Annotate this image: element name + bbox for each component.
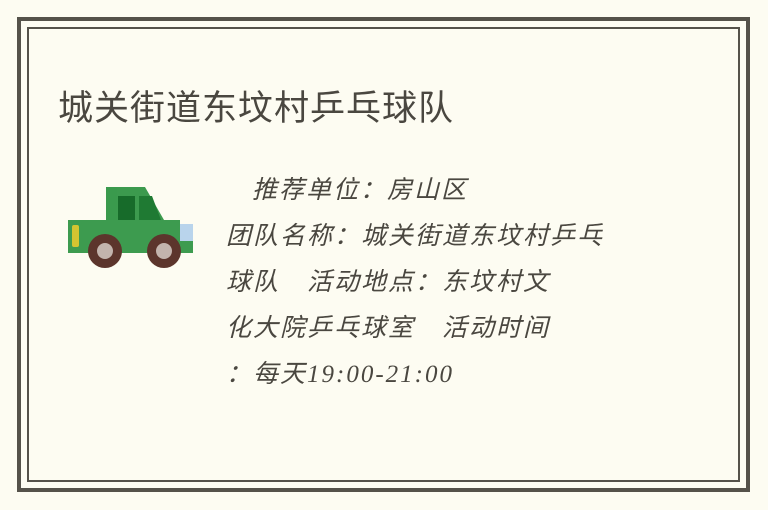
info-card: 城关街道东坟村乒乓球队 [0, 0, 768, 510]
green-pickup-truck-icon [60, 175, 208, 270]
detail-line: 球队 活动地点：东坟村文 [226, 260, 656, 306]
page-title: 城关街道东坟村乒乓球队 [58, 87, 454, 131]
detail-line: ：每天19:00-21:00 [226, 352, 656, 398]
detail-line: 团队名称：城关街道东坟村乒乓 [226, 214, 656, 260]
detail-line: 化大院乒乓球室 活动时间 [226, 306, 656, 352]
card-content: 城关街道东坟村乒乓球队 [0, 0, 768, 510]
team-details-text: 推荐单位：房山区 团队名称：城关街道东坟村乒乓 球队 活动地点：东坟村文 化大院… [226, 168, 656, 398]
detail-line: 推荐单位：房山区 [226, 168, 656, 214]
